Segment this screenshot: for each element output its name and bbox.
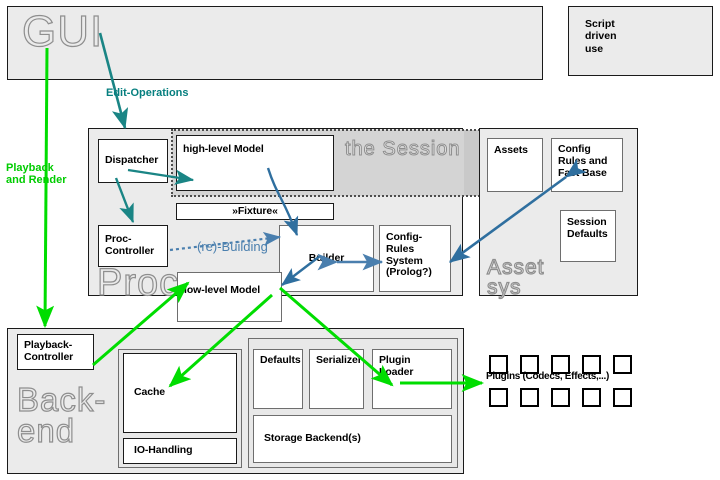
node-proc-controller[interactable]: Proc- Controller [98,225,168,267]
node-plugin-loader[interactable]: Plugin Loader [372,349,452,409]
label-edit-operations: Edit-Operations [106,88,189,100]
node-high-level-model-label: high-level Model [183,144,264,156]
backend-title: Back- end [17,384,106,447]
node-fixture[interactable]: »Fixture« [176,203,334,220]
node-dispatcher-label: Dispatcher [105,155,158,167]
node-defaults[interactable]: Defaults [253,349,303,409]
node-low-level-model-label: low-level Model [184,285,260,297]
node-playback-controller[interactable]: Playback- Controller [17,334,94,370]
plugin-chip[interactable] [551,388,570,407]
node-storage-backend-label: Storage Backend(s) [264,433,361,445]
node-serializer-label: Serializer [316,355,362,367]
node-serializer[interactable]: Serializer [309,349,364,409]
node-defaults-label: Defaults [260,355,301,367]
plugin-chip[interactable] [613,355,632,374]
node-low-level-model[interactable]: low-level Model [177,272,282,322]
gui-title: GUI [22,11,103,53]
node-playback-controller-label: Playback- Controller [24,340,73,364]
node-session-defaults[interactable]: Session Defaults [560,210,616,262]
arrow-playback-and-render [45,48,47,326]
node-config-rules-system-label: Config-Rules System (Prolog?) [386,232,444,279]
node-config-rules-system[interactable]: Config-Rules System (Prolog?) [379,225,451,292]
asset-sys-title: Asset sys [487,258,545,298]
diagram-canvas: GUI Script driven use Proc the Session D… [0,0,720,480]
plugin-chip[interactable] [520,388,539,407]
proc-title: Proc [97,265,179,301]
node-dispatcher[interactable]: Dispatcher [98,139,168,183]
node-io-handling-label: IO-Handling [134,445,192,457]
node-cache[interactable]: Cache [123,353,237,433]
node-io-handling[interactable]: IO-Handling [123,438,237,464]
node-config-rules-fact-base[interactable]: Config Rules and Fact Base [551,138,623,192]
node-builder-label: Builder [309,253,344,265]
label-re-building: (re)-Building [197,240,268,254]
node-fixture-label: »Fixture« [232,206,278,218]
node-assets-label: Assets [494,145,528,157]
node-high-level-model[interactable]: high-level Model [176,135,334,191]
node-proc-controller-label: Proc- Controller [105,234,154,258]
plugin-chip[interactable] [489,388,508,407]
session-title: the Session [345,140,461,159]
node-session-defaults-label: Session Defaults [567,217,608,241]
node-builder[interactable]: Builder [279,225,374,292]
node-cache-label: Cache [134,387,165,399]
plugin-chip[interactable] [582,388,601,407]
node-assets[interactable]: Assets [487,138,543,192]
script-driven-use-label: Script driven use [585,18,617,55]
node-config-rules-fact-base-label: Config Rules and Fact Base [558,144,607,179]
plugins-label: Plugins (Codecs, Effects,...) [486,372,609,383]
label-playback-and-render: Playback and Render [6,163,67,186]
plugin-chip[interactable] [613,388,632,407]
node-storage-backend[interactable]: Storage Backend(s) [253,415,452,463]
node-plugin-loader-label: Plugin Loader [379,355,445,379]
